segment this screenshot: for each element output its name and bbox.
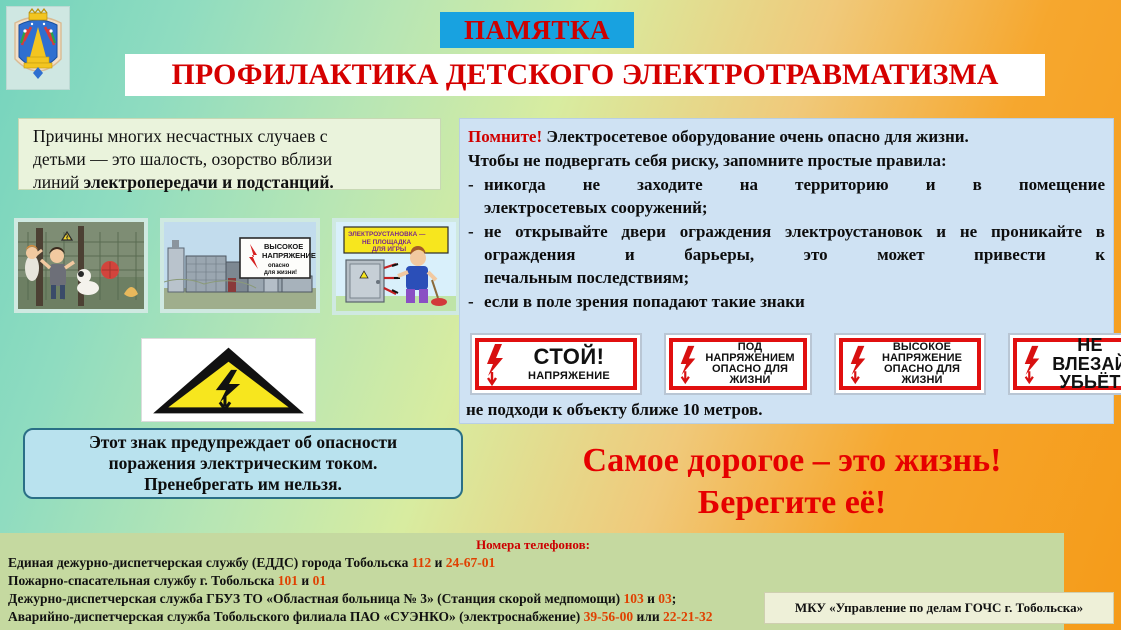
svg-text:опасно: опасно [268, 263, 290, 269]
warning-signs-row: СТОЙ! НАПРЯЖЕНИЕ ПОД НАПРЯЖЕНИЕМ ОПАСНО … [470, 333, 1121, 395]
causes-line-1: Причины многих несчастных случаев с [33, 126, 327, 146]
phone-row-2-num-1: 101 [278, 573, 298, 588]
issuing-organization-label: МКУ «Управление по делам ГОЧС г. Тобольс… [795, 600, 1083, 616]
slogan-line-2: Берегите её! [492, 482, 1092, 524]
rules-list: - никогда не заходите на территорию и в … [468, 173, 1105, 313]
pamyatka-badge: ПАМЯТКА [440, 12, 634, 48]
boy-at-electrical-cabinet-photo: ЭЛЕКТРОУСТАНОВКА — НЕ ПЛОЩАДКА ДЛЯ ИГРЫ [332, 218, 460, 315]
tobolsk-coat-of-arms-icon [6, 6, 70, 90]
rule-item-2-main: не открывайте двери ограждения электроус… [484, 220, 1105, 266]
phone-row-4-num-1: 39-56-00 [584, 609, 634, 624]
rule-item-1-rest: электросетевых сооружений; [484, 196, 1105, 219]
vysokoe-napryazhenie-opasno-sign: ВЫСОКОЕ НАПРЯЖЕНИЕ ОПАСНО ДЛЯ ЖИЗНИ [834, 333, 986, 395]
slogan-line-1: Самое дорогое – это жизнь! [492, 440, 1092, 482]
phone-row-2: Пожарно-спасательная службу г. Тобольска… [8, 572, 1058, 590]
rule-item-1-main: никогда не заходите на территорию и в по… [484, 173, 1105, 196]
phone-row-4-text: Аварийно-диспетчерская служба Тобольског… [8, 609, 584, 624]
causes-line-3-plain: линий [33, 172, 84, 192]
rule-item-1: - никогда не заходите на территорию и в … [468, 173, 1105, 219]
phone-row-3-tail: ; [672, 591, 677, 606]
rule-item-2-rest: печальным последствиям; [484, 266, 1105, 289]
phone-numbers-title: Номера телефонов: [8, 537, 1058, 553]
phone-row-3-mid: и [644, 591, 659, 606]
issuing-organization-box: МКУ «Управление по делам ГОЧС г. Тобольс… [764, 592, 1114, 624]
phone-row-3-text: Дежурно-диспетчерская служба ГБУЗ ТО «Об… [8, 591, 623, 606]
stoy-napryazhenie-sign: СТОЙ! НАПРЯЖЕНИЕ [470, 333, 642, 395]
page-title: ПРОФИЛАКТИКА ДЕТСКОГО ЭЛЕКТРОТРАВМАТИЗМА [125, 54, 1045, 96]
phone-row-3-num-1: 103 [623, 591, 643, 606]
approach-distance-note: не подходи к объекту ближе 10 метров. [466, 400, 762, 420]
sign-3-line-4: ЖИЗНИ [872, 375, 972, 386]
phone-row-2-text: Пожарно-спасательная службу г. Тобольска [8, 573, 278, 588]
phone-row-1: Единая дежурно-диспетчерская службу (ЕДД… [8, 554, 1058, 572]
svg-text:НЕ ПЛОЩАДКА: НЕ ПЛОЩАДКА [362, 239, 412, 246]
sign-4-line-2: УБЬЁТ [1046, 373, 1121, 391]
page-title-text: ПРОФИЛАКТИКА ДЕТСКОГО ЭЛЕКТРОТРАВМАТИЗМА [172, 58, 999, 92]
ne-vlezay-ubyot-sign: НЕ ВЛЕЗАЙ УБЬЁТ [1008, 333, 1121, 395]
lightning-bolt-icon [484, 342, 506, 386]
svg-text:ДЛЯ ИГРЫ: ДЛЯ ИГРЫ [372, 246, 406, 253]
slogan-block: Самое дорогое – это жизнь! Берегите её! [492, 440, 1092, 524]
causes-line-3-bold: электропередачи и подстанций. [84, 172, 334, 192]
phone-row-3-num-2: 03 [658, 591, 672, 606]
substation-high-voltage-sign-photo: ВЫСОКОЕ НАПРЯЖЕНИЕ опасно для жизни! [160, 218, 320, 313]
rule-dash: - [468, 173, 484, 219]
rule-dash: - [468, 290, 484, 313]
phone-row-1-num-2: 24-67-01 [446, 555, 496, 570]
rules-lead-2: Чтобы не подвергать себя риску, запомнит… [468, 149, 1105, 172]
electric-shock-warning-triangle [141, 338, 316, 422]
causes-line-2: детьми — это шалость, озорство вблизи [33, 149, 332, 169]
causes-box: Причины многих несчастных случаев с деть… [18, 118, 441, 190]
rules-lead-1: Помните! Электросетевое оборудование оче… [468, 125, 1105, 148]
rule-item-3-main: если в поле зрения попадают такие знаки [484, 290, 1105, 313]
phone-row-1-num-1: 112 [412, 555, 432, 570]
sign-explanation-line-1: Этот знак предупреждает об опасности [89, 432, 397, 453]
sign-2-line-4: ЖИЗНИ [702, 375, 798, 386]
lightning-bolt-icon [678, 343, 698, 385]
phone-row-2-num-2: 01 [313, 573, 327, 588]
phone-row-4-mid: или [633, 609, 663, 624]
sign-1-secondary: НАПРЯЖЕНИЕ [510, 371, 628, 382]
rules-lead-1-text: Электросетевое оборудование очень опасно… [542, 127, 969, 146]
sign-1-primary: СТОЙ! [510, 346, 628, 368]
sign-explanation-line-2: поражения электрическим током. [109, 453, 378, 474]
svg-text:ЭЛЕКТРОУСТАНОВКА —: ЭЛЕКТРОУСТАНОВКА — [348, 231, 426, 238]
svg-text:ВЫСОКОЕ: ВЫСОКОЕ [264, 242, 303, 251]
sign-explanation-line-3: Пренебрегать им нельзя. [144, 474, 342, 495]
pod-napryazheniem-opasno-sign: ПОД НАПРЯЖЕНИЕМ ОПАСНО ДЛЯ ЖИЗНИ [664, 333, 812, 395]
rule-item-3: - если в поле зрения попадают такие знак… [468, 290, 1105, 313]
sign-explanation-box: Этот знак предупреждает об опасности пор… [23, 428, 463, 499]
rule-dash: - [468, 220, 484, 289]
remember-label: Помните! [468, 127, 542, 146]
sign-4-line-1: НЕ ВЛЕЗАЙ [1046, 336, 1121, 373]
svg-text:для жизни!: для жизни! [264, 270, 297, 276]
svg-text:НАПРЯЖЕНИЕ: НАПРЯЖЕНИЕ [262, 251, 316, 260]
phone-row-1-text: Единая дежурно-диспетчерская службу (ЕДД… [8, 555, 412, 570]
rule-item-2: - не открывайте двери ограждения электро… [468, 220, 1105, 289]
lightning-bolt-icon [848, 343, 868, 385]
poster-canvas: ПАМЯТКА ПРОФИЛАКТИКА ДЕТСКОГО ЭЛЕКТРОТРА… [0, 0, 1121, 630]
phone-row-1-mid: и [431, 555, 446, 570]
phone-row-2-mid: и [298, 573, 313, 588]
lightning-bolt-icon [1022, 343, 1042, 385]
phone-row-4-num-2: 22-21-32 [663, 609, 713, 624]
children-near-fence-photo [14, 218, 148, 313]
pamyatka-badge-label: ПАМЯТКА [464, 15, 610, 46]
